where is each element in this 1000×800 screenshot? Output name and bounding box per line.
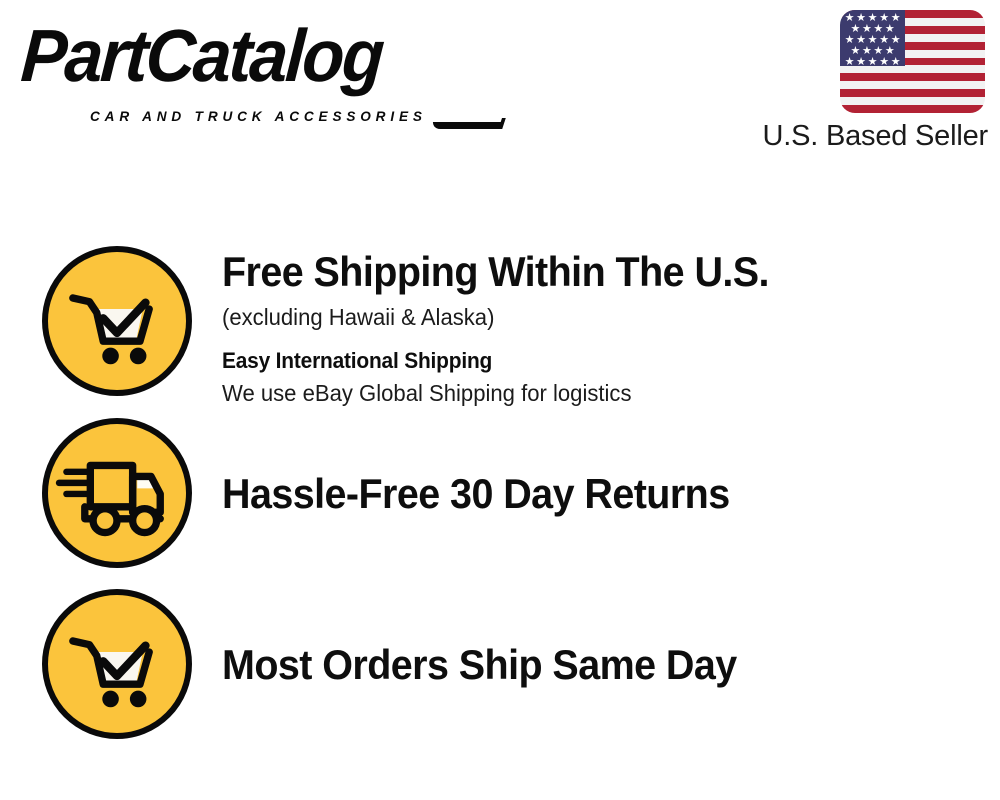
feature-secondary-title: Easy International Shipping — [222, 346, 925, 376]
feature-list: Free Shipping Within The U.S. (excluding… — [0, 0, 1000, 800]
shopping-cart-check-icon — [42, 246, 192, 396]
feature-text-block: Most Orders Ship Same Day — [222, 641, 962, 689]
feature-text-block: Free Shipping Within The U.S. (excluding… — [222, 248, 962, 408]
feature-subline: (excluding Hawaii & Alaska) — [222, 302, 932, 332]
feature-text-block: Hassle-Free 30 Day Returns — [222, 470, 962, 518]
feature-headline: Most Orders Ship Same Day — [222, 641, 918, 689]
feature-headline: Hassle-Free 30 Day Returns — [222, 470, 918, 518]
delivery-truck-icon — [42, 418, 192, 568]
shopping-cart-check-icon — [42, 589, 192, 739]
feature-secondary-text: We use eBay Global Shipping for logistic… — [222, 378, 932, 408]
feature-headline: Free Shipping Within The U.S. — [222, 248, 918, 296]
